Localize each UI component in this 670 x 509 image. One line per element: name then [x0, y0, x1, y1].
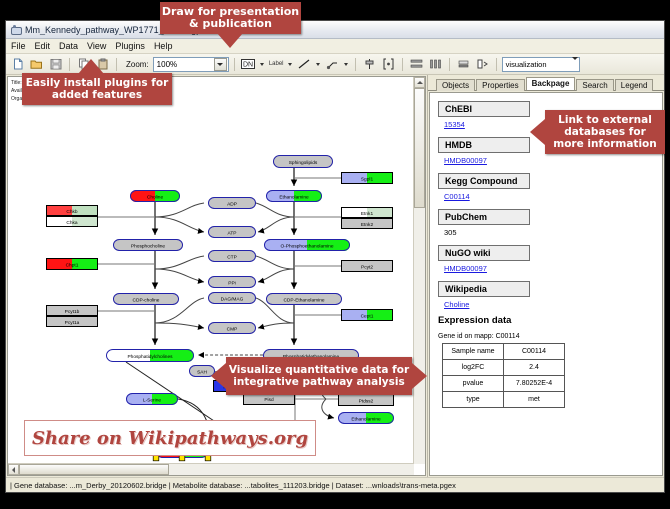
node-label: Pcyt1a: [65, 320, 80, 326]
callout-share-text: Share on Wikipathways.org: [32, 428, 308, 449]
scroll-left-button[interactable]: [8, 464, 19, 475]
node-label: CDP-choline: [133, 298, 160, 304]
node-label: SAH: [197, 370, 207, 376]
stack-icon[interactable]: [408, 56, 425, 73]
database-section-wikipedia: Wikipedia Choline: [438, 279, 654, 309]
callout-links: Link to external databases for more info…: [545, 110, 665, 154]
table-row: pvalue 7.80252E-4: [443, 376, 565, 392]
callout-plugins-arrow: [78, 59, 104, 74]
callout-share: Share on Wikipathways.org: [24, 420, 316, 456]
metabolite-node-cdp-ethanolamine[interactable]: CDP-Ethanolamine: [266, 293, 342, 305]
tab-objects[interactable]: Objects: [436, 79, 475, 91]
align-icon[interactable]: [361, 56, 378, 73]
title-bar: Mm_Kennedy_pathway_WP1771_45176.gpml: [6, 21, 664, 39]
table-cell-key: Sample name: [443, 344, 504, 360]
metabolite-node-choline-top[interactable]: Choline: [130, 190, 180, 202]
metabolite-node-l-serine-left[interactable]: L-Serine: [126, 393, 178, 405]
menu-item-data[interactable]: Data: [59, 41, 78, 51]
database-name: NuGO wiki: [438, 245, 530, 261]
table-cell-key: log2FC: [443, 360, 504, 376]
open-folder-icon[interactable]: [28, 56, 45, 73]
metabolite-node-ethanolamine-top[interactable]: Ethanolamine: [266, 190, 322, 202]
callout-visualize-line1: Visualize quantitative data for: [229, 364, 409, 376]
database-link[interactable]: Choline: [444, 300, 654, 309]
gene-node-pcyt1a[interactable]: Pcyt1a: [46, 316, 98, 327]
zoom-value: 100%: [157, 60, 177, 69]
label-tool-text: Label: [269, 61, 284, 67]
layer-icon[interactable]: [474, 56, 491, 73]
gene-node-pcyt2[interactable]: Pcyt2: [341, 260, 393, 272]
node-label: Chkb: [66, 209, 78, 215]
metabolite-node-atp[interactable]: ATP: [208, 226, 256, 238]
node-label: Cept1: [361, 314, 374, 320]
table-cell-value: 2.4: [504, 360, 565, 376]
scroll-thumb[interactable]: [19, 464, 169, 475]
callout-visualize-line2: integrative pathway analysis: [233, 376, 404, 388]
callout-links-line1: Link to external: [558, 114, 652, 126]
callout-plugins-line1: Easily install plugins for: [26, 77, 169, 89]
node-label: PPi: [228, 281, 235, 287]
canvas-vertical-scrollbar[interactable]: [413, 77, 425, 464]
table-cell-value: met: [504, 392, 565, 408]
node-label: O-Phosphoethanolamine: [280, 244, 333, 250]
tab-backpage[interactable]: Backpage: [526, 77, 576, 90]
metabolite-node-ethanolamine-right[interactable]: Ethanolamine: [338, 412, 394, 424]
node-label: Ethanolamine: [279, 195, 309, 201]
menu-item-view[interactable]: View: [87, 41, 106, 51]
chevron-down-icon[interactable]: [214, 58, 227, 71]
gene-node-chka[interactable]: Chka: [46, 216, 98, 227]
menu-item-file[interactable]: File: [11, 41, 26, 51]
toolbar-separator: [496, 58, 497, 71]
label-dropdown-icon[interactable]: [287, 57, 294, 72]
menu-bar: File Edit Data View Plugins Help: [6, 39, 664, 54]
app-icon: [10, 24, 21, 35]
toolbar-separator: [402, 58, 403, 71]
metabolite-node-phosphocholine[interactable]: Phosphocholine: [113, 239, 183, 251]
callout-draw-line2: & publication: [189, 18, 272, 30]
screenshot-root: Mm_Kennedy_pathway_WP1771_45176.gpml Fil…: [0, 0, 670, 509]
table-cell-value: C00114: [504, 344, 565, 360]
table-cell-key: pvalue: [443, 376, 504, 392]
callout-visualize-arrow-right: [412, 363, 427, 389]
status-bar: | Gene database: ...m_Derby_20120602.bri…: [6, 477, 664, 492]
node-label: Pcyt1b: [65, 309, 80, 315]
chevron-down-icon[interactable]: [572, 60, 578, 69]
node-label: CTP: [227, 255, 237, 261]
callout-links-line3: more information: [553, 138, 656, 150]
callout-links-arrow: [530, 119, 545, 145]
database-name: ChEBI: [438, 101, 530, 117]
database-name: PubChem: [438, 209, 530, 225]
node-label: CMP: [227, 327, 238, 333]
distribute-icon[interactable]: [427, 56, 444, 73]
database-link[interactable]: HMDB00097: [444, 264, 654, 273]
callout-links-line2: databases for: [564, 126, 646, 138]
node-label: Ethanolamine: [351, 417, 381, 423]
node-label: Pisd: [264, 397, 274, 403]
toolbar-separator: [69, 58, 70, 71]
node-label: Ptdss2: [359, 399, 374, 405]
gene-node-chkb[interactable]: Chkb: [46, 205, 98, 216]
metabolite-node-dag-mag[interactable]: DAG/MAG: [208, 292, 256, 304]
node-label: Chka: [66, 220, 78, 226]
toolbar-separator: [449, 58, 450, 71]
menu-item-edit[interactable]: Edit: [35, 41, 51, 51]
gene-node-sgpl1[interactable]: Sgpl1: [341, 172, 393, 184]
canvas-horizontal-scrollbar[interactable]: [8, 463, 414, 475]
database-name: Kegg Compound: [438, 173, 530, 189]
zoom-combobox[interactable]: 100%: [153, 57, 229, 72]
group-icon[interactable]: [380, 56, 397, 73]
side-panel-tabs: Objects Properties Backpage Search Legen…: [428, 75, 664, 91]
line-dropdown-icon[interactable]: [315, 57, 322, 72]
callout-visualize-arrow-left: [211, 363, 226, 389]
menu-item-plugins[interactable]: Plugins: [115, 41, 145, 51]
label-tool-icon[interactable]: Label: [268, 56, 285, 73]
node-label: Choline: [147, 195, 164, 201]
metabolite-node-cdp-choline[interactable]: CDP-choline: [113, 293, 179, 305]
table-row: type met: [443, 392, 565, 408]
gene-node-cept1[interactable]: Cept1: [341, 309, 393, 321]
tab-legend[interactable]: Legend: [615, 79, 654, 91]
visualization-combobox[interactable]: visualization: [502, 57, 580, 72]
metabolite-node-ppi[interactable]: PPi: [208, 276, 256, 288]
database-section-kegg: Kegg Compound C00114: [438, 171, 654, 201]
tab-search[interactable]: Search: [576, 79, 613, 91]
new-file-icon[interactable]: [9, 56, 26, 73]
toolbar-separator: [355, 58, 356, 71]
node-label: Sphingolipids: [289, 160, 318, 166]
metabolite-node-phosphatidylcholines[interactable]: Phosphatidylcholines: [106, 349, 194, 362]
metabolite-node-ctp[interactable]: CTP: [208, 250, 256, 262]
status-bar-text: | Gene database: ...m_Derby_20120602.bri…: [10, 481, 456, 490]
selection-handle[interactable]: [153, 455, 159, 461]
datanode-dropdown-icon[interactable]: [259, 57, 266, 72]
toolbar-separator: [116, 58, 117, 71]
table-row: Sample name C00114: [443, 344, 565, 360]
gene-id-label: Gene id on mapp: C00114: [438, 333, 654, 340]
gene-node-ptdss2[interactable]: Ptdss2: [338, 394, 394, 406]
pathway-diagram[interactable]: SphingolipidsCholineEthanolamineADPATPPh…: [8, 77, 426, 476]
database-name: HMDB: [438, 137, 530, 153]
metabolite-node-cmp[interactable]: CMP: [208, 322, 256, 334]
database-section-pubchem: PubChem 305: [438, 207, 654, 237]
order-icon[interactable]: [455, 56, 472, 73]
node-label: Phosphocholine: [131, 244, 165, 250]
table-cell-key: type: [443, 392, 504, 408]
node-label: DAG/MAG: [221, 297, 244, 303]
callout-plugins: Easily install plugins for added feature…: [22, 73, 172, 105]
table-cell-value: 7.80252E-4: [504, 376, 565, 392]
selection-handle[interactable]: [179, 455, 185, 461]
node-label: Sgpl1: [361, 177, 374, 183]
node-label: Chpt1: [66, 263, 79, 269]
datanode-icon[interactable]: DN: [240, 56, 257, 73]
database-value: 305: [444, 228, 654, 237]
interaction-dropdown-icon[interactable]: [343, 57, 350, 72]
table-row: log2FC 2.4: [443, 360, 565, 376]
tab-properties[interactable]: Properties: [476, 79, 524, 91]
callout-plugins-line2: added features: [52, 89, 142, 101]
save-disk-icon[interactable]: [47, 56, 64, 73]
node-label: Phosphatidylcholines: [127, 354, 173, 360]
pathway-canvas[interactable]: Title: Availa Organ: [7, 76, 426, 476]
node-label: Pcyt2: [361, 265, 373, 271]
toolbar-separator: [234, 58, 235, 71]
scroll-up-button[interactable]: [414, 77, 425, 88]
node-label: CDP-Ethanolamine: [283, 298, 324, 304]
callout-draw-arrow: [217, 33, 243, 48]
database-section-nugo: NuGO wiki HMDB00097: [438, 243, 654, 273]
menu-item-help[interactable]: Help: [154, 41, 173, 51]
gene-node-etnk1[interactable]: Etnk1: [341, 207, 393, 218]
visualization-value: visualization: [506, 60, 547, 69]
metabolite-node-o-phosphoethanolamine[interactable]: O-Phosphoethanolamine: [264, 239, 350, 251]
svg-text:DN: DN: [243, 62, 253, 69]
interaction-tool-icon[interactable]: [324, 56, 341, 73]
node-label: L-Serine: [143, 398, 161, 404]
callout-draw: Draw for presentation & publication: [160, 2, 301, 34]
line-tool-icon[interactable]: [296, 56, 313, 73]
gene-node-chpt1[interactable]: Chpt1: [46, 258, 98, 270]
metabolite-node-sphingolipids[interactable]: Sphingolipids: [273, 155, 333, 168]
database-link[interactable]: C00114: [444, 192, 654, 201]
node-label: ATP: [228, 231, 237, 237]
tool-bar: Zoom: 100% DN Label: [6, 54, 664, 75]
node-label: ADP: [227, 202, 237, 208]
metabolite-node-adp[interactable]: ADP: [208, 197, 256, 209]
scroll-thumb[interactable]: [414, 88, 425, 208]
expression-table: Sample name C00114 log2FC 2.4 pvalue 7.8…: [442, 343, 565, 408]
zoom-label: Zoom:: [126, 60, 149, 69]
node-label: Etnk2: [361, 222, 374, 228]
callout-visualize: Visualize quantitative data for integrat…: [226, 357, 412, 395]
gene-node-etnk2[interactable]: Etnk2: [341, 218, 393, 229]
expression-data-heading: Expression data: [438, 315, 654, 326]
node-label: Etnk1: [361, 211, 374, 217]
selection-handle[interactable]: [205, 455, 211, 461]
database-link[interactable]: HMDB00097: [444, 156, 654, 165]
database-name: Wikipedia: [438, 281, 530, 297]
gene-node-pcyt1b[interactable]: Pcyt1b: [46, 305, 98, 316]
